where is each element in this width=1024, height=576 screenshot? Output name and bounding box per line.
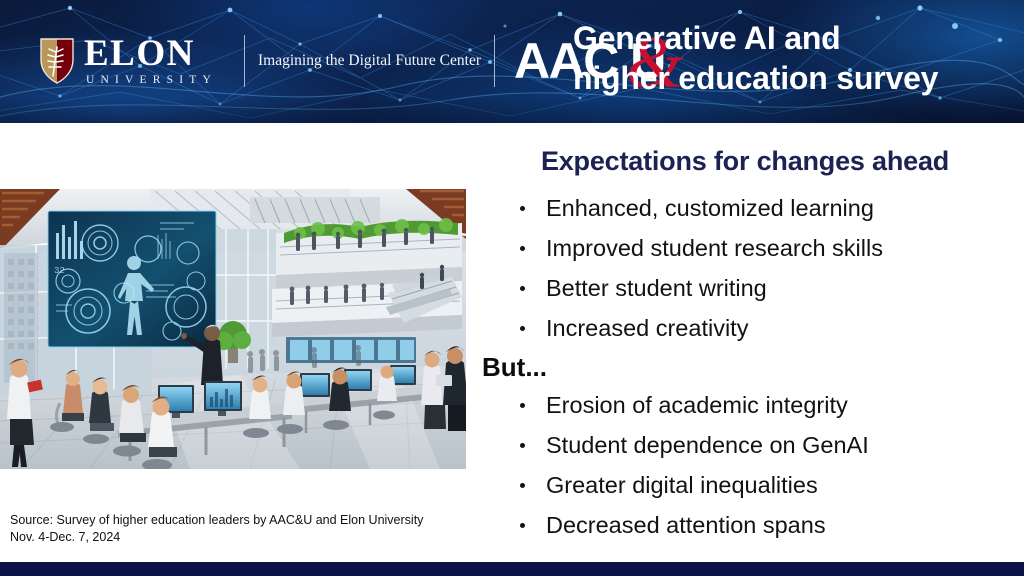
list-item: Student dependence on GenAI: [490, 425, 1010, 465]
hologram-display: 32: [48, 211, 216, 347]
bullet-icon: [520, 523, 525, 528]
list-item: Decreased attention spans: [490, 505, 1010, 545]
bullet-icon: [520, 443, 525, 448]
content-panel: Expectations for changes ahead Enhanced,…: [466, 130, 1024, 560]
but-subheading: But...: [482, 352, 547, 383]
list-item: Improved student research skills: [490, 228, 1010, 268]
elon-shield-icon: [40, 38, 74, 84]
list-item-label: Decreased attention spans: [546, 512, 826, 538]
bullet-icon: [520, 403, 525, 408]
logo-divider-2: [494, 35, 495, 87]
back-monitor-wall: [286, 337, 416, 363]
bullet-icon: [520, 246, 525, 251]
elon-wordmark-text: ELON: [84, 36, 217, 72]
page-title: Expectations for changes ahead: [478, 146, 1012, 177]
imagining-digital-future-center-text: Imagining the Digital Future Center: [258, 52, 481, 70]
list-item: Better student writing: [490, 268, 1010, 308]
slide-header-title: Generative AI and higher education surve…: [573, 18, 1003, 98]
positive-expectations-list: Enhanced, customized learning Improved s…: [490, 188, 1010, 348]
list-item: Increased creativity: [490, 308, 1010, 348]
bullet-icon: [520, 286, 525, 291]
bullet-icon: [520, 206, 525, 211]
list-item: Erosion of academic integrity: [490, 385, 1010, 425]
elon-university-text: UNIVERSITY: [84, 74, 217, 86]
slide-canvas: ELON UNIVERSITY Imagining the Digital Fu…: [0, 0, 1024, 576]
list-item-label: Improved student research skills: [546, 235, 883, 261]
classroom-illustration-image: 32: [0, 189, 466, 469]
bullet-icon: [520, 483, 525, 488]
header-banner: ELON UNIVERSITY Imagining the Digital Fu…: [0, 0, 1024, 123]
bullet-icon: [520, 326, 525, 331]
list-item-label: Enhanced, customized learning: [546, 195, 874, 221]
logo-divider-1: [244, 35, 245, 87]
list-item-label: Student dependence on GenAI: [546, 432, 869, 458]
list-item: Greater digital inequalities: [490, 465, 1010, 505]
illustration-artwork: 32: [0, 189, 466, 469]
list-item-label: Greater digital inequalities: [546, 472, 818, 498]
negative-expectations-list: Erosion of academic integrity Student de…: [490, 385, 1010, 545]
svg-text:32: 32: [54, 266, 65, 276]
footer-bar: [0, 562, 1024, 576]
list-item-label: Better student writing: [546, 275, 767, 301]
list-item-label: Erosion of academic integrity: [546, 392, 848, 418]
elon-wordmark-block: ELON UNIVERSITY: [84, 36, 217, 86]
source-citation: Source: Survey of higher education leade…: [10, 512, 460, 546]
list-item: Enhanced, customized learning: [490, 188, 1010, 228]
list-item-label: Increased creativity: [546, 315, 748, 341]
